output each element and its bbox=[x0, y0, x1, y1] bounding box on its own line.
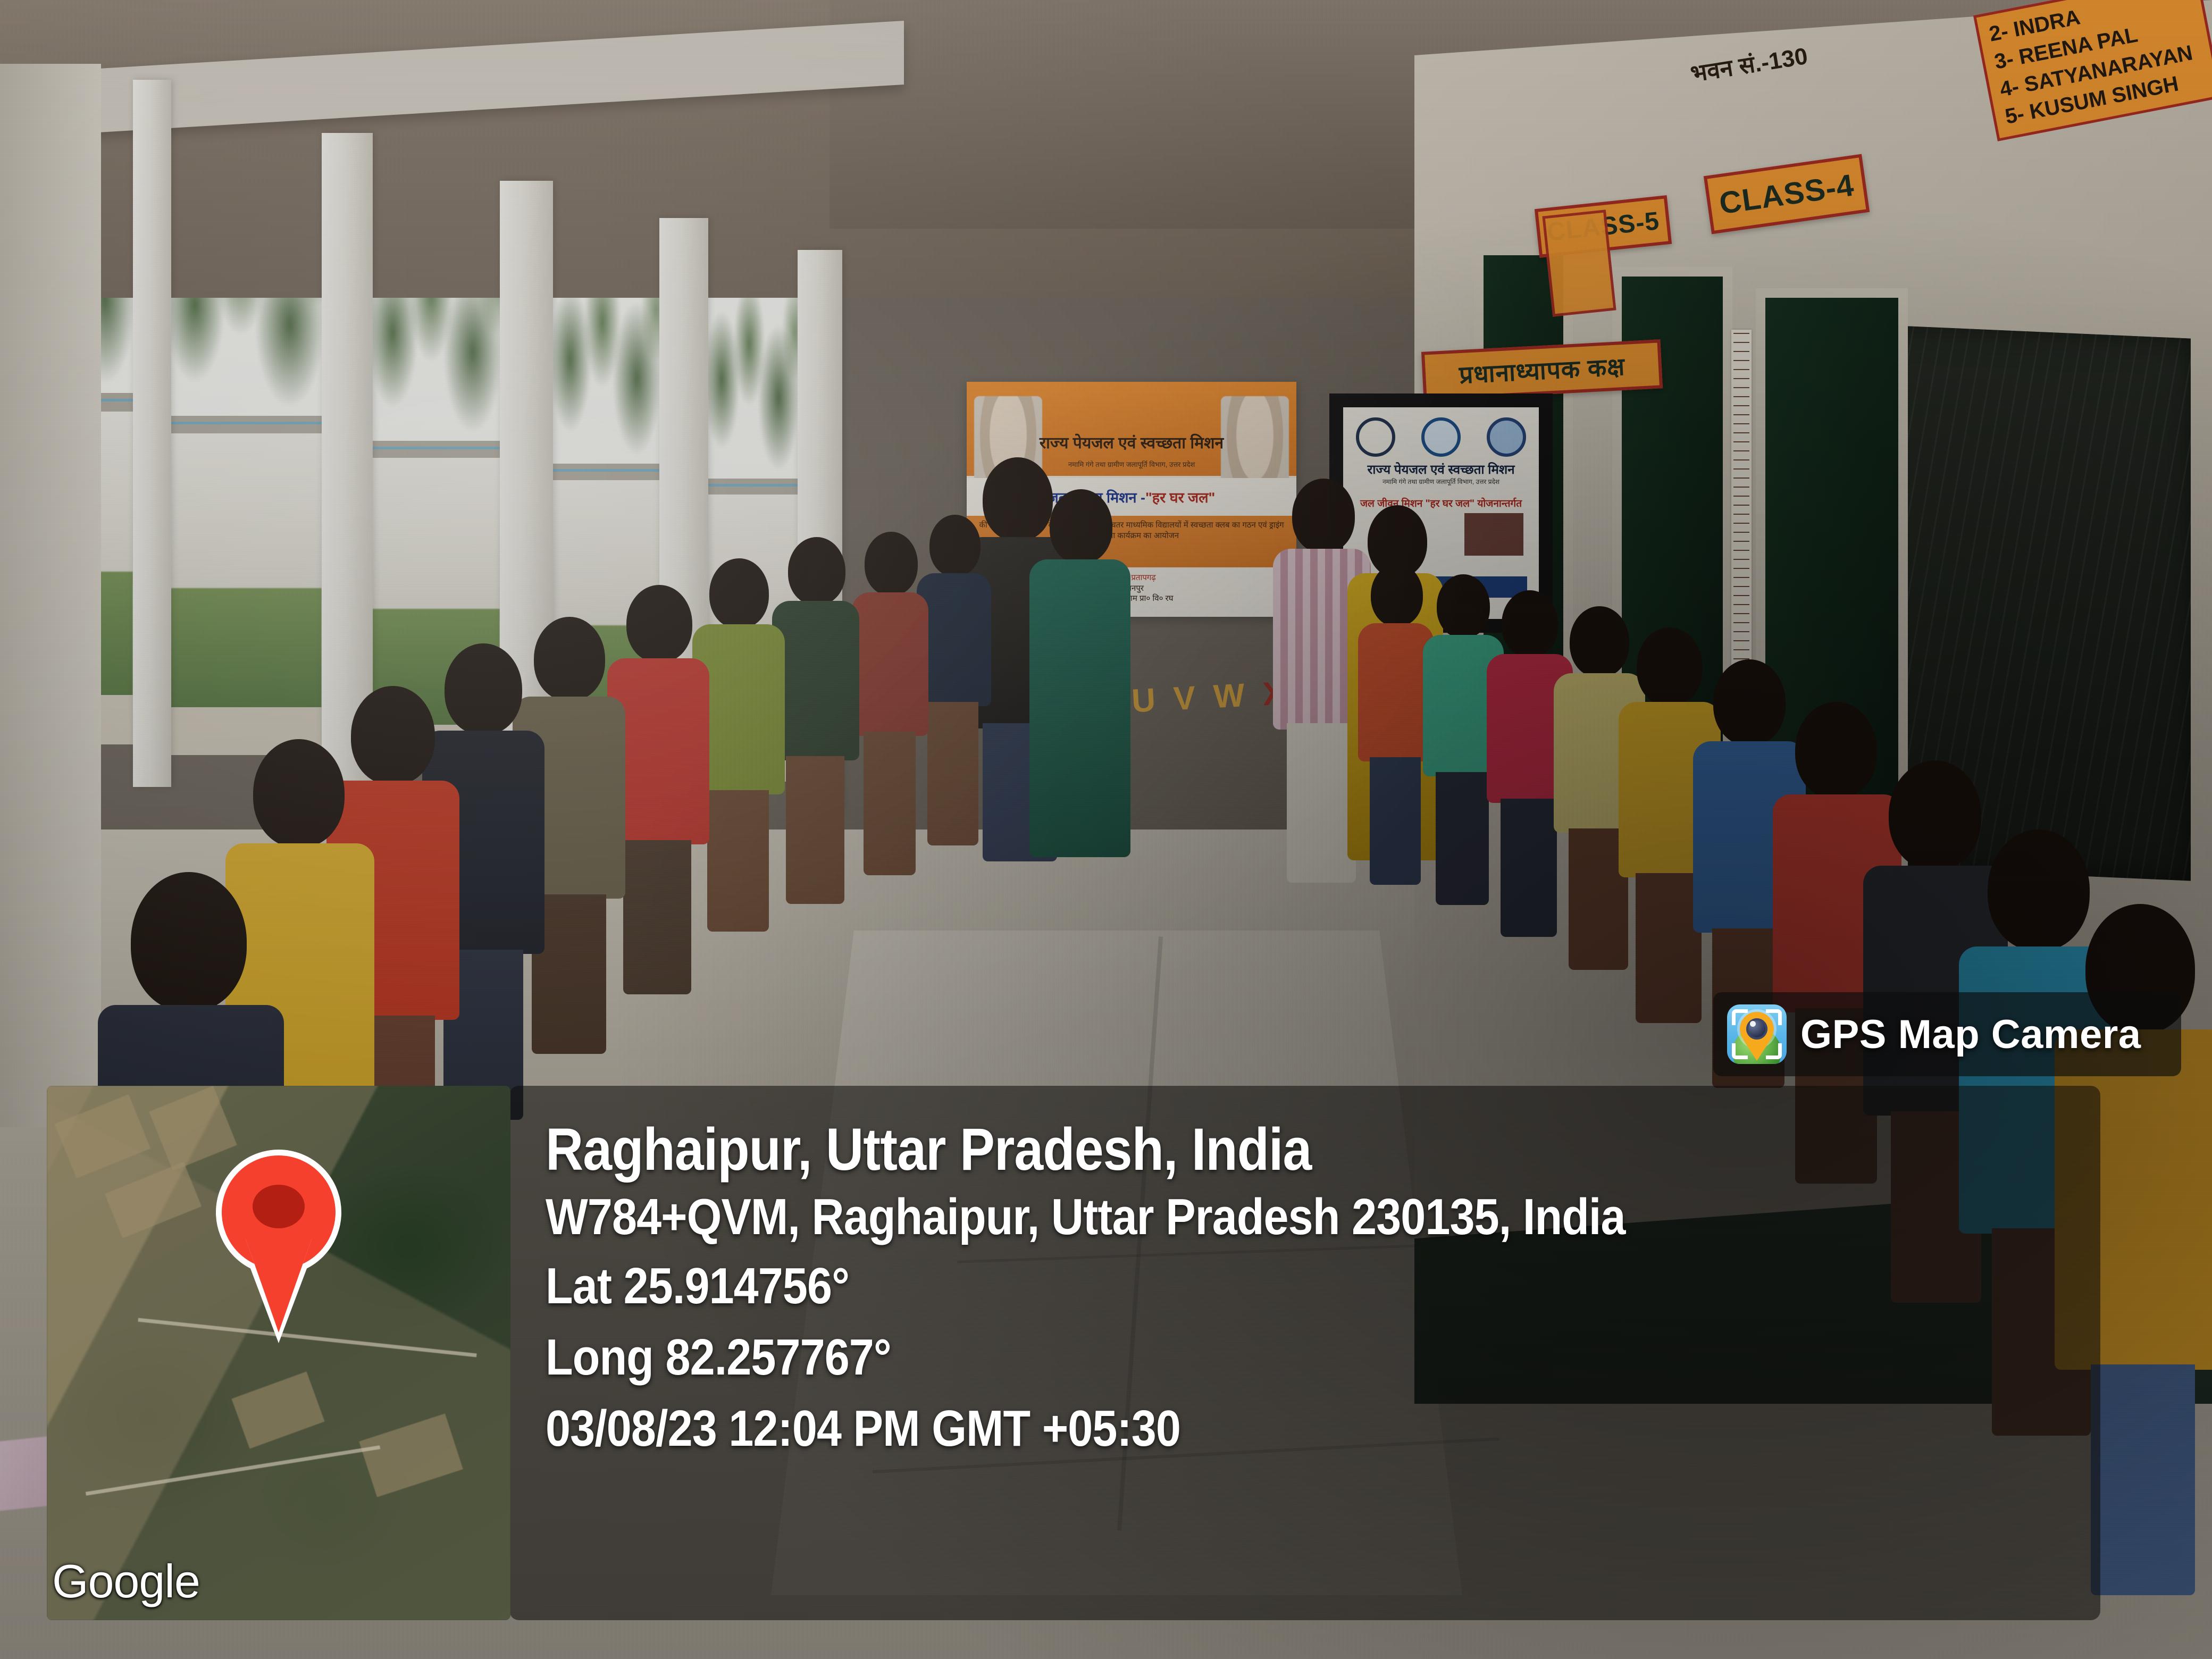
veranda-pillar bbox=[133, 80, 171, 787]
poster-subtitle: नमामि गंगे तथा ग्रामीण जलापूर्ति विभाग, … bbox=[1343, 477, 1539, 486]
location-longitude-text: Long 82.257767° bbox=[546, 1322, 1914, 1393]
alphabet-letter: W bbox=[1212, 676, 1245, 716]
location-place-text: Raghaipur, Uttar Pradesh, India bbox=[546, 1116, 1914, 1184]
sign-notice-board bbox=[1542, 210, 1616, 317]
viewfinder-corner-icon bbox=[1766, 1009, 1782, 1025]
map-pin-tip bbox=[246, 1239, 312, 1333]
poster-photo bbox=[1464, 513, 1523, 556]
viewfinder-corner-icon bbox=[1766, 1043, 1782, 1059]
photo-screenshot: CLASS-5 CLASS-4 प्रधानाध्यापक कक्ष 2- IN… bbox=[0, 0, 2212, 1659]
gps-map-camera-app-icon bbox=[1727, 1004, 1787, 1064]
sign-class-4-label: CLASS-4 bbox=[1717, 167, 1856, 221]
location-address-text: W784+QVM, Raghaipur, Uttar Pradesh 23013… bbox=[546, 1184, 1914, 1251]
water-drop-icon bbox=[1421, 417, 1461, 457]
map-pin-dot bbox=[253, 1185, 305, 1228]
map-pin-icon bbox=[216, 1150, 341, 1275]
camera-lens-icon bbox=[1746, 1018, 1767, 1040]
mission-seal-icon bbox=[1487, 417, 1526, 457]
viewfinder-corner-icon bbox=[1732, 1009, 1748, 1025]
veranda-pillar-shaded bbox=[0, 64, 101, 1127]
adult-female-green-saree bbox=[1026, 489, 1133, 861]
location-timestamp-text: 03/08/23 12:04 PM GMT +05:30 bbox=[546, 1393, 1914, 1464]
google-watermark: Google bbox=[52, 1554, 200, 1608]
sign-headmaster-room-label: प्रधानाध्यापक कक्ष bbox=[1458, 349, 1626, 391]
notice-line bbox=[1555, 219, 1596, 235]
poster-title: राज्य पेयजल एवं स्वच्छता मिशन bbox=[1343, 460, 1539, 478]
gps-map-camera-watermark: GPS Map Camera bbox=[1713, 992, 2181, 1076]
viewfinder-corner-icon bbox=[1732, 1043, 1748, 1059]
child-in-line bbox=[850, 532, 929, 872]
banner-district-value: प्रतापगढ़ bbox=[1131, 573, 1155, 582]
gps-map-camera-label: GPS Map Camera bbox=[1800, 1011, 2141, 1058]
alphabet-letter: V bbox=[1172, 679, 1196, 718]
poster-logo-row bbox=[1343, 416, 1539, 458]
location-latitude-text: Lat 25.914756° bbox=[546, 1251, 1914, 1322]
alphabet-letter: U bbox=[1130, 681, 1156, 720]
location-info-panel: Raghaipur, Uttar Pradesh, India W784+QVM… bbox=[509, 1086, 2100, 1620]
banner-school-value: प्रा० वि० रघ bbox=[1139, 594, 1174, 603]
emblem-icon bbox=[1356, 417, 1395, 457]
banner-title: राज्य पेयजल एवं स्वच्छता मिशन bbox=[967, 431, 1296, 453]
map-thumbnail[interactable]: Google bbox=[47, 1086, 510, 1620]
banner-slogan-quoted: "हर घर जल" bbox=[1145, 487, 1215, 507]
